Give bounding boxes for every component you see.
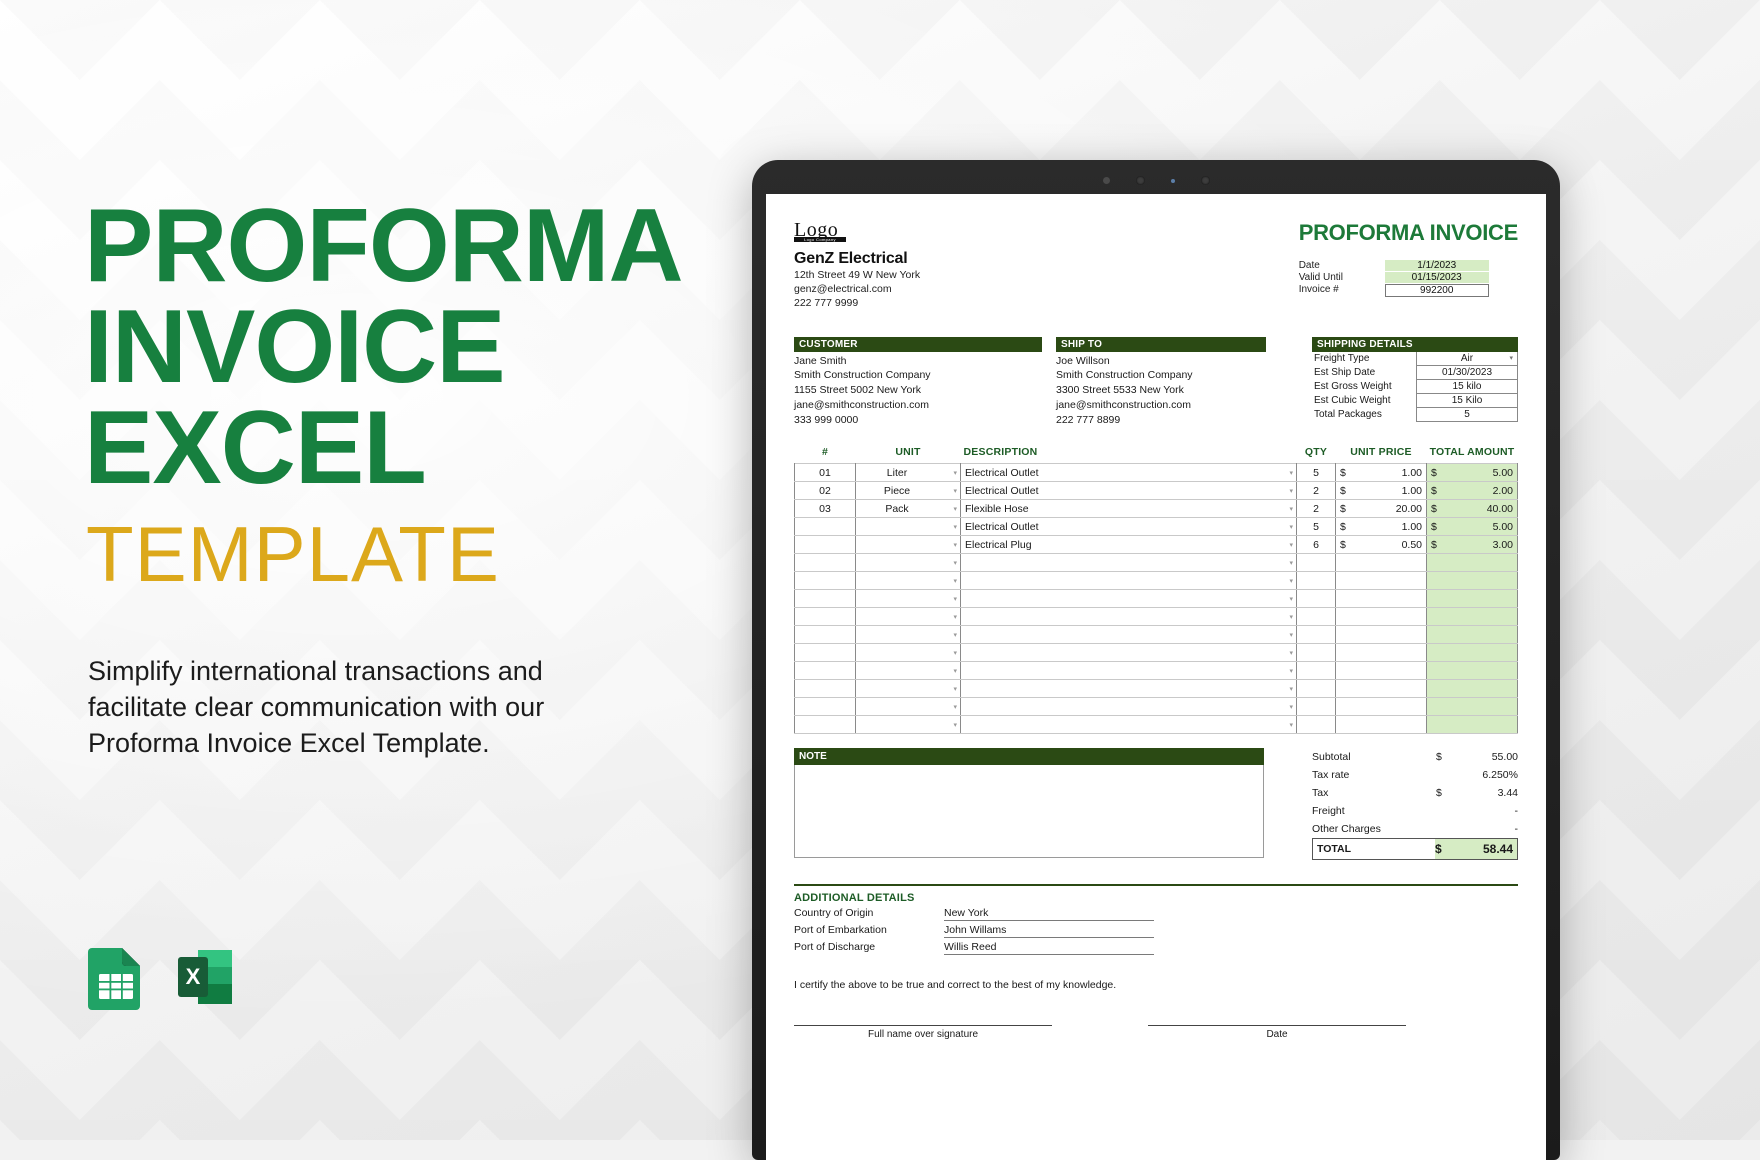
cell-currency: $ xyxy=(1336,500,1357,518)
cell-total-currency xyxy=(1427,608,1448,626)
cell-number xyxy=(795,518,856,536)
cell-unit-price[interactable] xyxy=(1356,716,1427,734)
cell-total-amount xyxy=(1447,698,1518,716)
totals-row-subtotal: Subtotal $ 55.00 xyxy=(1312,748,1518,766)
column-header-unit-price: UNIT PRICE xyxy=(1336,446,1427,464)
cell-description[interactable]: Electrical Outlet xyxy=(961,464,1275,482)
customer-line: 1155 Street 5002 New York xyxy=(794,383,1042,398)
totals-row-other-charges: Other Charges - xyxy=(1312,820,1518,838)
cell-unit[interactable]: Piece xyxy=(856,482,939,500)
cell-currency xyxy=(1336,662,1357,680)
chevron-down-icon[interactable]: ▾ xyxy=(953,685,957,693)
chevron-down-icon[interactable]: ▾ xyxy=(1289,577,1293,585)
cell-description[interactable] xyxy=(961,716,1275,734)
invoice-document: Logo Logo Company GenZ Electrical 12th S… xyxy=(766,194,1546,1160)
chevron-down-icon[interactable]: ▾ xyxy=(953,613,957,621)
cell-description-dropdown[interactable]: ▾ xyxy=(1274,554,1297,572)
cell-unit[interactable] xyxy=(856,680,939,698)
totals-value-subtotal: 55.00 xyxy=(1452,751,1518,763)
cell-description[interactable] xyxy=(961,608,1275,626)
cell-description-dropdown[interactable]: ▾ xyxy=(1274,680,1297,698)
cell-unit-dropdown[interactable]: ▾ xyxy=(938,590,961,608)
chevron-down-icon[interactable]: ▾ xyxy=(953,703,957,711)
cell-unit-dropdown[interactable]: ▾ xyxy=(938,500,961,518)
column-header-unit: UNIT xyxy=(856,446,961,464)
cell-description[interactable]: Flexible Hose xyxy=(961,500,1275,518)
signature-caption: Date xyxy=(1148,1026,1406,1040)
line-items-body: 01Liter▾Electrical Outlet▾5$1.00$5.0002P… xyxy=(795,464,1518,734)
cell-unit-price[interactable]: 1.00 xyxy=(1356,482,1427,500)
cell-total-amount xyxy=(1447,626,1518,644)
totals-label-tax-rate: Tax rate xyxy=(1312,769,1436,781)
additional-value-country-of-origin[interactable]: New York xyxy=(944,907,1154,921)
cell-qty[interactable]: 2 xyxy=(1297,500,1336,518)
totals-currency-freight xyxy=(1436,805,1452,817)
meta-label-invoice-number: Invoice # xyxy=(1299,284,1385,297)
cell-description-dropdown[interactable]: ▾ xyxy=(1274,518,1297,536)
cell-qty[interactable]: 6 xyxy=(1297,536,1336,554)
app-icon-row: X xyxy=(84,944,238,1010)
cell-currency: $ xyxy=(1336,464,1357,482)
cell-qty[interactable]: 2 xyxy=(1297,482,1336,500)
additional-details-heading: ADDITIONAL DETAILS xyxy=(794,892,1518,904)
cell-currency xyxy=(1336,716,1357,734)
cell-description[interactable] xyxy=(961,554,1275,572)
cell-description[interactable] xyxy=(961,572,1275,590)
chevron-down-icon[interactable]: ▾ xyxy=(953,649,957,657)
cell-unit[interactable] xyxy=(856,608,939,626)
cell-total-amount: 5.00 xyxy=(1447,464,1518,482)
microsoft-excel-icon[interactable]: X xyxy=(174,944,238,1010)
chevron-down-icon[interactable]: ▾ xyxy=(1289,685,1293,693)
chevron-down-icon[interactable]: ▾ xyxy=(1289,505,1293,513)
cell-number: 02 xyxy=(795,482,856,500)
cell-total-amount xyxy=(1447,572,1518,590)
cell-unit[interactable] xyxy=(856,626,939,644)
additional-label-port-of-discharge: Port of Discharge xyxy=(794,941,944,955)
cell-qty[interactable] xyxy=(1297,716,1336,734)
chevron-down-icon[interactable]: ▾ xyxy=(953,577,957,585)
cell-total-currency xyxy=(1427,662,1448,680)
chevron-down-icon[interactable]: ▾ xyxy=(953,559,957,567)
cell-unit[interactable] xyxy=(856,518,939,536)
cell-total-currency xyxy=(1427,572,1448,590)
cell-unit-price[interactable] xyxy=(1356,680,1427,698)
cell-currency xyxy=(1336,698,1357,716)
cell-qty[interactable] xyxy=(1297,590,1336,608)
note-input[interactable] xyxy=(794,765,1264,858)
cell-description-dropdown[interactable]: ▾ xyxy=(1274,590,1297,608)
totals-label-tax: Tax xyxy=(1312,787,1436,799)
chevron-down-icon[interactable]: ▾ xyxy=(1289,649,1293,657)
ship-to-line: Smith Construction Company xyxy=(1056,368,1266,383)
table-row[interactable]: ▾Electrical Outlet▾5$1.00$5.00 xyxy=(795,518,1518,536)
cell-qty[interactable] xyxy=(1297,572,1336,590)
cell-currency xyxy=(1336,572,1357,590)
shipping-value-est-gross-weight[interactable]: 15 kilo xyxy=(1416,380,1518,394)
cell-description-dropdown[interactable]: ▾ xyxy=(1274,716,1297,734)
shipping-detail-row: Total Packages 5 xyxy=(1312,408,1518,422)
cell-unit[interactable]: Liter xyxy=(856,464,939,482)
totals-value-other-charges[interactable]: - xyxy=(1452,823,1518,835)
cell-unit-dropdown[interactable]: ▾ xyxy=(938,662,961,680)
tablet-device-frame: Logo Logo Company GenZ Electrical 12th S… xyxy=(752,160,1560,1160)
cell-description-dropdown[interactable]: ▾ xyxy=(1274,536,1297,554)
chevron-down-icon[interactable]: ▾ xyxy=(953,487,957,495)
shipping-details-heading: SHIPPING DETAILS xyxy=(1312,337,1518,352)
ship-to-details[interactable]: Joe Willson Smith Construction Company 3… xyxy=(1056,352,1266,429)
cell-number xyxy=(795,698,856,716)
signature-caption: Full name over signature xyxy=(794,1026,1052,1040)
cell-number: 03 xyxy=(795,500,856,518)
totals-value-tax: 3.44 xyxy=(1452,787,1518,799)
shipping-detail-row: Est Ship Date 01/30/2023 xyxy=(1312,366,1518,380)
totals-row-tax-rate: Tax rate 6.250% xyxy=(1312,766,1518,784)
cell-description[interactable]: Electrical Outlet xyxy=(961,518,1275,536)
additional-label-country-of-origin: Country of Origin xyxy=(794,907,944,921)
cell-total-amount: 2.00 xyxy=(1447,482,1518,500)
invoice-meta-grid: Date 1/1/2023 Valid Until 01/15/2023 Inv… xyxy=(1299,260,1518,297)
cell-total-currency xyxy=(1427,716,1448,734)
company-address: 12th Street 49 W New York xyxy=(794,268,920,282)
shipping-label-freight-type: Freight Type xyxy=(1312,352,1416,366)
table-row[interactable]: ▾▾ xyxy=(795,572,1518,590)
freight-type-text: Air xyxy=(1461,353,1473,364)
cell-number xyxy=(795,590,856,608)
cell-unit-price[interactable]: 20.00 xyxy=(1356,500,1427,518)
svg-text:X: X xyxy=(186,964,201,989)
column-header-qty: QTY xyxy=(1297,446,1336,464)
shipping-value-freight-type[interactable]: Air ▾ xyxy=(1416,352,1518,366)
chevron-down-icon[interactable]: ▾ xyxy=(1289,667,1293,675)
cell-description[interactable] xyxy=(961,644,1275,662)
cell-unit-price[interactable] xyxy=(1356,662,1427,680)
cell-description-dropdown[interactable]: ▾ xyxy=(1274,626,1297,644)
certification-statement: I certify the above to be true and corre… xyxy=(794,979,1518,991)
cell-qty[interactable]: 5 xyxy=(1297,464,1336,482)
note-and-totals: NOTE Subtotal $ 55.00 Tax rate 6.250% Ta… xyxy=(794,748,1518,860)
cell-qty[interactable] xyxy=(1297,680,1336,698)
chevron-down-icon[interactable]: ▾ xyxy=(953,595,957,603)
cell-qty[interactable]: 5 xyxy=(1297,518,1336,536)
promo-description: Simplify international transactions and … xyxy=(88,653,608,762)
cell-number xyxy=(795,608,856,626)
totals-label-subtotal: Subtotal xyxy=(1312,751,1436,763)
totals-currency-grand-total: $ xyxy=(1435,839,1451,859)
shipping-label-est-cubic-weight: Est Cubic Weight xyxy=(1312,394,1416,408)
column-header-description: DESCRIPTION xyxy=(961,446,1297,464)
totals-label-grand-total: TOTAL xyxy=(1313,840,1435,858)
parties-panels: CUSTOMER Jane Smith Smith Construction C… xyxy=(794,337,1518,429)
cell-description[interactable] xyxy=(961,590,1275,608)
cell-unit-dropdown[interactable]: ▾ xyxy=(938,518,961,536)
cell-qty[interactable] xyxy=(1297,554,1336,572)
cell-unit-dropdown[interactable]: ▾ xyxy=(938,698,961,716)
cell-total-amount xyxy=(1447,716,1518,734)
cell-description-dropdown[interactable]: ▾ xyxy=(1274,482,1297,500)
cell-description[interactable] xyxy=(961,662,1275,680)
shipping-detail-row: Est Gross Weight 15 kilo xyxy=(1312,380,1518,394)
chevron-down-icon[interactable]: ▾ xyxy=(953,469,957,477)
totals-label-freight: Freight xyxy=(1312,805,1436,817)
cell-unit-price[interactable]: 1.00 xyxy=(1356,518,1427,536)
google-sheets-icon[interactable] xyxy=(84,944,148,1010)
additional-value-port-of-discharge[interactable]: Willis Reed xyxy=(944,941,1154,955)
shipping-detail-row: Est Cubic Weight 15 Kilo xyxy=(1312,394,1518,408)
cell-description[interactable] xyxy=(961,680,1275,698)
cell-unit-dropdown[interactable]: ▾ xyxy=(938,716,961,734)
cell-unit-dropdown[interactable]: ▾ xyxy=(938,554,961,572)
cell-description-dropdown[interactable]: ▾ xyxy=(1274,644,1297,662)
cell-total-currency: $ xyxy=(1427,482,1448,500)
invoice-title-block: PROFORMA INVOICE Date 1/1/2023 Valid Unt… xyxy=(1299,220,1518,297)
table-row[interactable]: ▾▾ xyxy=(795,626,1518,644)
table-row[interactable]: ▾▾ xyxy=(795,608,1518,626)
company-block: Logo Logo Company GenZ Electrical 12th S… xyxy=(794,220,920,311)
cell-description-dropdown[interactable]: ▾ xyxy=(1274,608,1297,626)
customer-line: 333 999 0000 xyxy=(794,413,1042,428)
cell-number xyxy=(795,554,856,572)
note-block: NOTE xyxy=(794,748,1264,858)
chevron-down-icon[interactable]: ▾ xyxy=(953,667,957,675)
cell-description[interactable]: Electrical Plug xyxy=(961,536,1275,554)
meta-value-date[interactable]: 1/1/2023 xyxy=(1385,260,1489,271)
cell-unit[interactable] xyxy=(856,662,939,680)
cell-unit[interactable] xyxy=(856,698,939,716)
chevron-down-icon[interactable]: ▾ xyxy=(1289,613,1293,621)
cell-number xyxy=(795,626,856,644)
cell-unit-price[interactable] xyxy=(1356,698,1427,716)
cell-number xyxy=(795,662,856,680)
cell-qty[interactable] xyxy=(1297,698,1336,716)
chevron-down-icon[interactable]: ▾ xyxy=(953,505,957,513)
chevron-down-icon[interactable]: ▾ xyxy=(1289,595,1293,603)
chevron-down-icon[interactable]: ▾ xyxy=(1289,721,1293,729)
company-name: GenZ Electrical xyxy=(794,250,920,268)
signature-row: Full name over signature Date xyxy=(794,1025,1518,1040)
additional-detail-row: Country of Origin New York xyxy=(794,907,1518,921)
cell-total-currency xyxy=(1427,698,1448,716)
ship-to-line: 3300 Street 5533 New York xyxy=(1056,383,1266,398)
cell-total-currency: $ xyxy=(1427,518,1448,536)
table-row[interactable]: ▾▾ xyxy=(795,554,1518,572)
cell-unit-price[interactable] xyxy=(1356,590,1427,608)
cell-unit-dropdown[interactable]: ▾ xyxy=(938,482,961,500)
signature-block-date[interactable]: Date xyxy=(1148,1025,1406,1040)
totals-block: Subtotal $ 55.00 Tax rate 6.250% Tax $ 3… xyxy=(1312,748,1518,860)
invoice-title: PROFORMA INVOICE xyxy=(1299,220,1518,246)
chevron-down-icon[interactable]: ▾ xyxy=(953,631,957,639)
meta-value-invoice-number[interactable]: 992200 xyxy=(1385,284,1489,297)
chevron-down-icon[interactable]: ▾ xyxy=(1289,631,1293,639)
cell-unit-dropdown[interactable]: ▾ xyxy=(938,644,961,662)
cell-description-dropdown[interactable]: ▾ xyxy=(1274,698,1297,716)
additional-detail-row: Port of Embarkation John Willams xyxy=(794,924,1518,938)
cell-unit[interactable] xyxy=(856,572,939,590)
cell-unit-dropdown[interactable]: ▾ xyxy=(938,464,961,482)
totals-value-freight[interactable]: - xyxy=(1452,805,1518,817)
signature-block-name[interactable]: Full name over signature xyxy=(794,1025,1052,1040)
cell-qty[interactable] xyxy=(1297,644,1336,662)
cell-unit-dropdown[interactable]: ▾ xyxy=(938,680,961,698)
table-row[interactable]: ▾▾ xyxy=(795,644,1518,662)
cell-unit[interactable] xyxy=(856,554,939,572)
cell-unit[interactable] xyxy=(856,644,939,662)
totals-currency-subtotal: $ xyxy=(1436,751,1452,763)
camera-icon xyxy=(1136,176,1145,185)
ship-to-heading: SHIP TO xyxy=(1056,337,1266,352)
shipping-label-est-gross-weight: Est Gross Weight xyxy=(1312,380,1416,394)
totals-currency-other-charges xyxy=(1436,823,1452,835)
cell-total-amount xyxy=(1447,554,1518,572)
cell-currency xyxy=(1336,590,1357,608)
cell-currency: $ xyxy=(1336,536,1357,554)
cell-qty[interactable] xyxy=(1297,662,1336,680)
chevron-down-icon[interactable]: ▾ xyxy=(953,523,957,531)
cell-total-currency xyxy=(1427,590,1448,608)
page-subtitle: TEMPLATE xyxy=(86,515,724,593)
cell-description-dropdown[interactable]: ▾ xyxy=(1274,464,1297,482)
meta-label-date: Date xyxy=(1299,260,1385,271)
headline-line-3: EXCEL xyxy=(84,398,724,499)
cell-total-currency xyxy=(1427,626,1448,644)
cell-total-amount xyxy=(1447,644,1518,662)
chevron-down-icon[interactable]: ▾ xyxy=(1509,354,1513,362)
shipping-detail-row: Freight Type Air ▾ xyxy=(1312,352,1518,366)
promo-panel: PROFORMA INVOICE EXCEL TEMPLATE Simplify… xyxy=(84,196,724,761)
chevron-down-icon[interactable]: ▾ xyxy=(1289,469,1293,477)
customer-line: jane@smithconstruction.com xyxy=(794,398,1042,413)
cell-unit-dropdown[interactable]: ▾ xyxy=(938,626,961,644)
cell-total-amount xyxy=(1447,680,1518,698)
cell-currency: $ xyxy=(1336,518,1357,536)
cell-description[interactable]: Electrical Outlet xyxy=(961,482,1275,500)
page-title: PROFORMA INVOICE EXCEL xyxy=(84,196,724,499)
cell-total-currency: $ xyxy=(1427,536,1448,554)
table-row[interactable]: ▾▾ xyxy=(795,716,1518,734)
line-items-table: # UNIT DESCRIPTION QTY UNIT PRICE TOTAL … xyxy=(794,446,1518,734)
cell-total-amount xyxy=(1447,608,1518,626)
cell-total-currency xyxy=(1427,644,1448,662)
chevron-down-icon[interactable]: ▾ xyxy=(1289,487,1293,495)
totals-value-grand-total: 58.44 xyxy=(1451,839,1517,859)
invoice-header: Logo Logo Company GenZ Electrical 12th S… xyxy=(794,220,1518,311)
totals-label-other-charges: Other Charges xyxy=(1312,823,1436,835)
table-row[interactable]: 01Liter▾Electrical Outlet▾5$1.00$5.00 xyxy=(795,464,1518,482)
cell-number xyxy=(795,536,856,554)
cell-number xyxy=(795,680,856,698)
ship-to-line: 222 777 8899 xyxy=(1056,413,1266,428)
headline-line-1: PROFORMA xyxy=(84,196,724,297)
chevron-down-icon[interactable]: ▾ xyxy=(1289,703,1293,711)
cell-description[interactable] xyxy=(961,698,1275,716)
note-heading: NOTE xyxy=(794,748,1264,765)
cell-unit[interactable] xyxy=(856,590,939,608)
cell-total-currency: $ xyxy=(1427,500,1448,518)
chevron-down-icon[interactable]: ▾ xyxy=(953,721,957,729)
cell-unit[interactable] xyxy=(856,716,939,734)
additional-label-port-of-embarkation: Port of Embarkation xyxy=(794,924,944,938)
table-row[interactable]: ▾▾ xyxy=(795,698,1518,716)
cell-unit[interactable]: Pack xyxy=(856,500,939,518)
tablet-sensor-row xyxy=(752,176,1560,185)
cell-unit-price[interactable] xyxy=(1356,644,1427,662)
indicator-dot-icon xyxy=(1171,179,1175,183)
cell-qty[interactable] xyxy=(1297,626,1336,644)
customer-heading: CUSTOMER xyxy=(794,337,1042,352)
cell-currency xyxy=(1336,680,1357,698)
meta-value-valid-until[interactable]: 01/15/2023 xyxy=(1385,272,1489,283)
table-row[interactable]: ▾▾ xyxy=(795,662,1518,680)
table-row[interactable]: ▾▾ xyxy=(795,590,1518,608)
ship-to-panel: SHIP TO Joe Willson Smith Construction C… xyxy=(1056,337,1266,429)
cell-number xyxy=(795,572,856,590)
cell-unit-dropdown[interactable]: ▾ xyxy=(938,536,961,554)
cell-total-currency: $ xyxy=(1427,464,1448,482)
additional-value-port-of-embarkation[interactable]: John Willams xyxy=(944,924,1154,938)
totals-row-freight: Freight - xyxy=(1312,802,1518,820)
shipping-label-total-packages: Total Packages xyxy=(1312,408,1416,422)
table-row[interactable]: ▾Electrical Plug▾6$0.50$3.00 xyxy=(795,536,1518,554)
cell-currency xyxy=(1336,644,1357,662)
cell-description[interactable] xyxy=(961,626,1275,644)
cell-unit[interactable] xyxy=(856,536,939,554)
shipping-value-total-packages[interactable]: 5 xyxy=(1416,408,1518,422)
customer-line: Smith Construction Company xyxy=(794,368,1042,383)
cell-unit-price[interactable]: 1.00 xyxy=(1356,464,1427,482)
cell-unit-price[interactable]: 0.50 xyxy=(1356,536,1427,554)
cell-unit-price[interactable] xyxy=(1356,608,1427,626)
cell-unit-price[interactable] xyxy=(1356,572,1427,590)
table-row[interactable]: 03Pack▾Flexible Hose▾2$20.00$40.00 xyxy=(795,500,1518,518)
cell-unit-dropdown[interactable]: ▾ xyxy=(938,608,961,626)
shipping-value-est-ship-date[interactable]: 01/30/2023 xyxy=(1416,366,1518,380)
cell-currency xyxy=(1336,608,1357,626)
chevron-down-icon[interactable]: ▾ xyxy=(953,541,957,549)
chevron-down-icon[interactable]: ▾ xyxy=(1289,559,1293,567)
cell-description-dropdown[interactable]: ▾ xyxy=(1274,572,1297,590)
cell-currency: $ xyxy=(1336,482,1357,500)
table-row[interactable]: ▾▾ xyxy=(795,680,1518,698)
cell-unit-price[interactable] xyxy=(1356,626,1427,644)
sensor-dot-icon xyxy=(1103,177,1110,184)
cell-description-dropdown[interactable]: ▾ xyxy=(1274,500,1297,518)
ship-to-line: jane@smithconstruction.com xyxy=(1056,398,1266,413)
headline-line-2: INVOICE xyxy=(84,297,724,398)
additional-details-section: ADDITIONAL DETAILS Country of Origin New… xyxy=(794,884,1518,1040)
cell-currency xyxy=(1336,626,1357,644)
table-row[interactable]: 02Piece▾Electrical Outlet▾2$1.00$2.00 xyxy=(795,482,1518,500)
totals-value-tax-rate[interactable]: 6.250% xyxy=(1452,769,1518,781)
meta-label-valid-until: Valid Until xyxy=(1299,272,1385,283)
camera-icon xyxy=(1201,176,1210,185)
column-header-total-amount: TOTAL AMOUNT xyxy=(1427,446,1518,464)
totals-currency-tax-rate xyxy=(1436,769,1452,781)
totals-row-grand-total: TOTAL $ 58.44 xyxy=(1312,838,1518,860)
customer-details[interactable]: Jane Smith Smith Construction Company 11… xyxy=(794,352,1042,429)
company-phone: 222 777 9999 xyxy=(794,296,920,310)
shipping-label-est-ship-date: Est Ship Date xyxy=(1312,366,1416,380)
cell-unit-dropdown[interactable]: ▾ xyxy=(938,572,961,590)
chevron-down-icon[interactable]: ▾ xyxy=(1289,541,1293,549)
cell-qty[interactable] xyxy=(1297,608,1336,626)
cell-currency xyxy=(1336,554,1357,572)
cell-description-dropdown[interactable]: ▾ xyxy=(1274,662,1297,680)
chevron-down-icon[interactable]: ▾ xyxy=(1289,523,1293,531)
cell-unit-price[interactable] xyxy=(1356,554,1427,572)
shipping-value-est-cubic-weight[interactable]: 15 Kilo xyxy=(1416,394,1518,408)
ship-to-line: Joe Willson xyxy=(1056,354,1266,369)
